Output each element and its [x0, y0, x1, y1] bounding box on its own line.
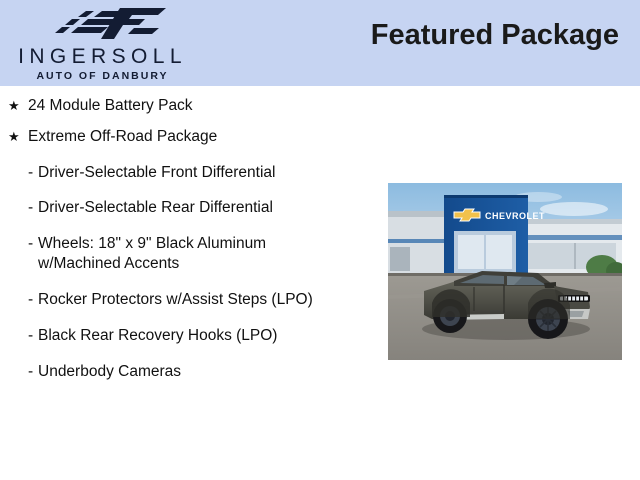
dealer-logo: INGERSOLL AUTO OF DANBURY — [0, 2, 210, 84]
ingersoll-wing-emblem — [46, 6, 168, 42]
page-header: INGERSOLL AUTO OF DANBURY Featured Packa… — [0, 0, 640, 86]
feature-sub-item-label: Wheels: 18" x 9" Black Aluminum w/Machin… — [38, 234, 338, 274]
feature-sub-item: - Underbody Cameras — [0, 362, 380, 382]
dash-bullet-icon: - — [28, 163, 38, 183]
feature-item: ★ 24 Module Battery Pack — [0, 96, 380, 116]
feature-sub-item-label: Black Rear Recovery Hooks (LPO) — [38, 326, 338, 346]
feature-sub-item-label: Driver-Selectable Front Differential — [38, 163, 338, 183]
vehicle-photo: CHEVROLET — [388, 183, 622, 360]
dash-bullet-icon: - — [28, 198, 38, 218]
feature-sub-item: - Black Rear Recovery Hooks (LPO) — [0, 326, 380, 346]
svg-text:CHEVROLET: CHEVROLET — [485, 211, 545, 221]
feature-list: ★ 24 Module Battery Pack ★ Extreme Off-R… — [0, 86, 380, 381]
star-bullet-icon: ★ — [8, 127, 28, 147]
dash-bullet-icon: - — [28, 362, 38, 382]
feature-sub-item-label: Driver-Selectable Rear Differential — [38, 198, 338, 218]
dash-bullet-icon: - — [28, 290, 38, 310]
feature-sub-item: - Wheels: 18" x 9" Black Aluminum w/Mach… — [0, 234, 380, 274]
feature-sub-item: - Rocker Protectors w/Assist Steps (LPO) — [0, 290, 380, 310]
feature-item-label: 24 Module Battery Pack — [28, 96, 328, 116]
dealer-brand-name: INGERSOLL — [0, 46, 205, 67]
dealer-tagline: AUTO OF DANBURY — [0, 71, 205, 82]
star-bullet-icon: ★ — [8, 96, 28, 116]
feature-sub-item-label: Rocker Protectors w/Assist Steps (LPO) — [38, 290, 338, 310]
feature-item: ★ Extreme Off-Road Package — [0, 127, 380, 147]
page-title: Featured Package — [371, 19, 619, 52]
feature-sub-item-label: Underbody Cameras — [38, 362, 338, 382]
dash-bullet-icon: - — [28, 234, 38, 254]
feature-sub-item: - Driver-Selectable Rear Differential — [0, 198, 380, 218]
feature-item-label: Extreme Off-Road Package — [28, 127, 328, 147]
feature-sub-item: - Driver-Selectable Front Differential — [0, 163, 380, 183]
dash-bullet-icon: - — [28, 326, 38, 346]
